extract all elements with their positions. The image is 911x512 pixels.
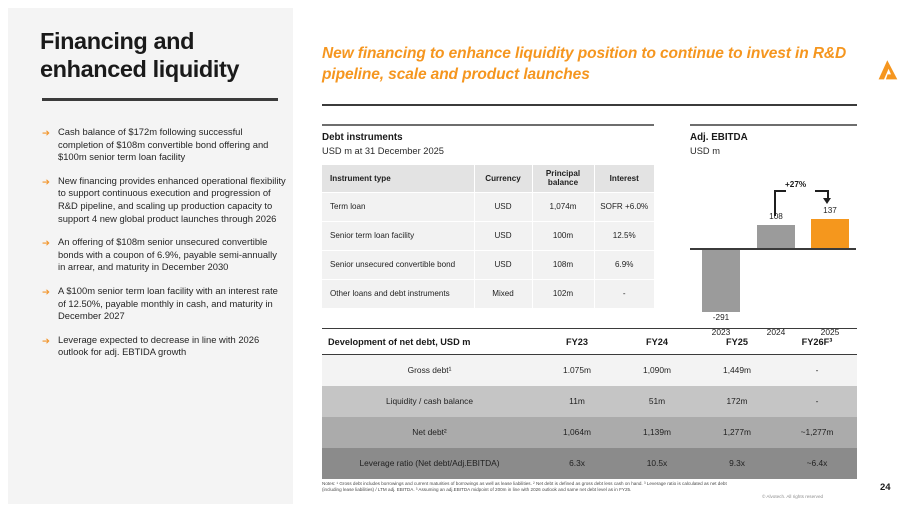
arrow-right-icon: ➔ [42,126,58,164]
cell-fy24: 1,139m [617,417,697,448]
bar-value-2023: -291 [697,313,745,322]
list-item: ➔ New financing provides enhanced operat… [42,175,286,225]
cell-fy26f: - [777,355,857,386]
row-label-gross-debt: Gross debt¹ [322,355,537,386]
cell-currency: USD [474,192,532,221]
cell-interest: 12.5% [594,221,654,250]
arrow-right-icon: ➔ [42,236,58,274]
cell-fy26f: ~1,277m [777,417,857,448]
cell-instrument: Other loans and debt instruments [322,279,474,308]
cell-principal: 108m [532,250,594,279]
bar-2025 [811,219,849,248]
cell-fy26f: ~6.4x [777,448,857,479]
cell-instrument: Senior term loan facility [322,221,474,250]
debt-instruments-subtitle: USD m at 31 December 2025 [322,146,444,156]
cell-principal: 100m [532,221,594,250]
table-row: Net debt² 1,064m 1,139m 1,277m ~1,277m [322,417,857,448]
slide-root: Financing and enhanced liquidity ➔ Cash … [0,0,911,512]
growth-arrow-icon [823,198,831,204]
copyright-notice: © Alvotech. All rights reserved [762,494,823,499]
bullet-list: ➔ Cash balance of $172m following succes… [42,126,286,370]
bar-value-2024: 108 [752,212,800,221]
row-label-leverage-ratio: Leverage ratio (Net debt/Adj.EBITDA) [322,448,537,479]
ebitda-bar-chart: -291 2023 108 2024 137 2025 +27% [690,160,860,300]
table-row: Senior term loan facility USD 100m 12.5% [322,221,654,250]
column-header-currency: Currency [474,165,532,192]
arrow-right-icon: ➔ [42,175,58,225]
debt-section-divider [322,124,654,126]
table-row: Leverage ratio (Net debt/Adj.EBITDA) 6.3… [322,448,857,479]
list-item-text: New financing provides enhanced operatio… [58,175,286,225]
cell-fy23: 11m [537,386,617,417]
footnotes: Notes: ¹ Gross debt includes borrowings … [322,481,742,494]
list-item-text: Cash balance of $172m following successf… [58,126,286,164]
cell-fy25: 1,277m [697,417,777,448]
table-header-row: Instrument type Currency Principal balan… [322,165,654,192]
cell-fy26f: - [777,386,857,417]
cell-instrument: Senior unsecured convertible bond [322,250,474,279]
page-title: Financing and enhanced liquidity [40,28,280,83]
column-header-development-of-net-debt: Development of net debt, USD m [322,329,537,355]
table-header-row: Development of net debt, USD m FY23 FY24… [322,329,857,355]
table-row: Liquidity / cash balance 11m 51m 172m - [322,386,857,417]
growth-connector-left [774,190,776,216]
column-header-instrument-type: Instrument type [322,165,474,192]
cell-interest: - [594,279,654,308]
cell-principal: 102m [532,279,594,308]
cell-interest: 6.9% [594,250,654,279]
column-header-fy25: FY25 [697,329,777,355]
cell-principal: 1,074m [532,192,594,221]
row-label-liquidity-cash-balance: Liquidity / cash balance [322,386,537,417]
table-row: Other loans and debt instruments Mixed 1… [322,279,654,308]
cell-instrument: Term loan [322,192,474,221]
column-header-principal-balance: Principal balance [532,165,594,192]
cell-fy23: 6.3x [537,448,617,479]
cell-currency: USD [474,221,532,250]
cell-fy25: 172m [697,386,777,417]
title-divider [42,98,278,101]
cell-fy25: 9.3x [697,448,777,479]
cell-fy23: 1,064m [537,417,617,448]
bar-2024 [757,225,795,248]
table-row: Term loan USD 1,074m SOFR +6.0% [322,192,654,221]
debt-instruments-title: Debt instruments [322,132,403,143]
arrow-right-icon: ➔ [42,334,58,359]
list-item-text: An offering of $108m senior unsecured co… [58,236,286,274]
list-item: ➔ Leverage expected to decrease in line … [42,334,286,359]
page-number: 24 [880,482,891,493]
cell-currency: USD [474,250,532,279]
ebitda-chart-title: Adj. EBITDA [690,132,748,143]
column-header-fy26f: FY26F³ [777,329,857,355]
column-header-fy23: FY23 [537,329,617,355]
cell-fy23: 1.075m [537,355,617,386]
cell-fy25: 1,449m [697,355,777,386]
cell-interest: SOFR +6.0% [594,192,654,221]
page-title-line1: Financing and [40,28,280,56]
net-debt-table: Development of net debt, USD m FY23 FY24… [322,328,857,479]
ebitda-section-divider [690,124,857,126]
list-item: ➔ A $100m senior term loan facility with… [42,285,286,323]
growth-percentage-label: +27% [785,180,806,189]
cell-fy24: 1,090m [617,355,697,386]
arrow-right-icon: ➔ [42,285,58,323]
list-item-text: Leverage expected to decrease in line wi… [58,334,286,359]
bar-value-2025: 137 [806,206,854,215]
cell-fy24: 51m [617,386,697,417]
cell-fy24: 10.5x [617,448,697,479]
alvotech-logo-icon [876,58,900,82]
list-item: ➔ Cash balance of $172m following succes… [42,126,286,164]
list-item-text: A $100m senior term loan facility with a… [58,285,286,323]
headline: New financing to enhance liquidity posit… [322,44,852,85]
table-row: Senior unsecured convertible bond USD 10… [322,250,654,279]
column-header-interest: Interest [594,165,654,192]
debt-instruments-table: Instrument type Currency Principal balan… [322,165,654,308]
headline-divider [322,104,857,106]
list-item: ➔ An offering of $108m senior unsecured … [42,236,286,274]
table-row: Gross debt¹ 1.075m 1,090m 1,449m - [322,355,857,386]
growth-connector-top-left [774,190,786,192]
row-label-net-debt: Net debt² [322,417,537,448]
column-header-fy24: FY24 [617,329,697,355]
page-title-line2: enhanced liquidity [40,56,280,84]
bar-2023 [702,250,740,312]
cell-currency: Mixed [474,279,532,308]
ebitda-chart-subtitle: USD m [690,146,720,156]
